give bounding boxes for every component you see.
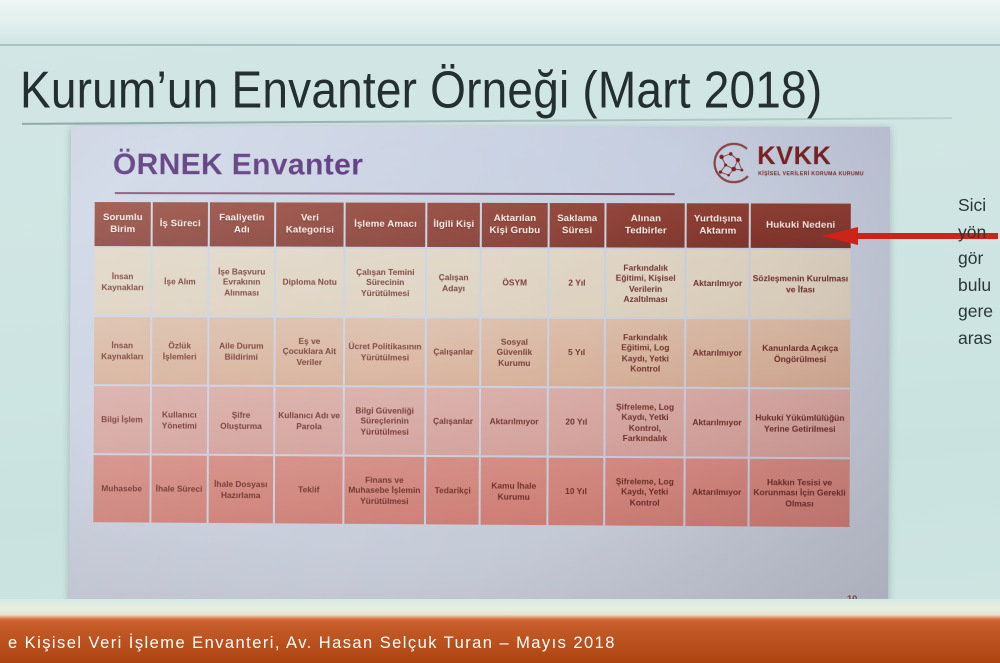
cell-aktarilan-kisi-grubu: ÖSYM xyxy=(482,249,548,317)
screenshot-root: Kurum’un Envanter Örneği (Mart 2018) ÖRN… xyxy=(0,0,1000,663)
inventory-table: Sorumlu Birim İş Süreci Faaliyetin Adı V… xyxy=(91,200,853,529)
cell-hukuki-nedeni: Sözleşmenin Kurulması ve İfası xyxy=(750,250,850,318)
slide-title: ÖRNEK Envanter xyxy=(113,146,364,184)
table-row: Bilgi İşlem Kullanıcı Yönetimi Şifre Olu… xyxy=(94,386,850,457)
cell-saklama-suresi: 2 Yıl xyxy=(549,249,604,317)
column-header-aktarilan-kisi-grubu[interactable]: Aktarılan Kişi Grubu xyxy=(482,203,548,247)
cell-veri-kategorisi: Teklif xyxy=(275,456,342,524)
cell-faaliyetin-adi: İhale Dosyası Hazırlama xyxy=(208,456,273,524)
banner-text: e Kişisel Veri İşleme Envanteri, Av. Has… xyxy=(8,632,616,654)
cell-aktarilan-kisi-grubu: Kamu İhale Kurumu xyxy=(481,457,547,525)
column-header-sorumlu-birim[interactable]: Sorumlu Birim xyxy=(95,202,152,246)
cell-saklama-suresi: 20 Yıl xyxy=(549,388,604,456)
cell-hukuki-nedeni: Hakkın Tesisi ve Korunması İçin Gerekli … xyxy=(749,459,849,527)
cell-is-sureci: İhale Süreci xyxy=(152,455,207,522)
column-header-veri-kategorisi[interactable]: Veri Kategorisi xyxy=(276,202,343,246)
table-row: İnsan Kaynakları Özlük İşlemleri Aile Du… xyxy=(94,317,850,387)
cell-faaliyetin-adi: Şifre Oluşturma xyxy=(208,387,273,454)
kvkk-subtitle: KİŞİSEL VERİLERİ KORUMA KURUMU xyxy=(758,171,864,178)
cell-veri-kategorisi: Diploma Notu xyxy=(276,249,343,316)
cell-isleme-amaci: Bilgi Güvenliği Süreçlerinin Yürütülmesi xyxy=(345,387,425,455)
side-note-line: bulu xyxy=(958,272,1000,299)
cell-saklama-suresi: 10 Yıl xyxy=(548,458,603,526)
cell-sorumlu-birim: Bilgi İşlem xyxy=(94,386,151,453)
cell-sorumlu-birim: İnsan Kaynakları xyxy=(94,248,151,315)
cell-is-sureci: Özlük İşlemleri xyxy=(152,317,207,384)
side-note: Sici yön gör bulu gere aras xyxy=(958,192,1000,351)
column-header-isleme-amaci[interactable]: İşleme Amacı xyxy=(345,203,425,247)
cell-is-sureci: İşe Alım xyxy=(153,248,208,315)
cell-sorumlu-birim: İnsan Kaynakları xyxy=(94,317,151,384)
table-row: İnsan Kaynakları İşe Alım İşe Başvuru Ev… xyxy=(94,248,850,318)
wall-upper-band xyxy=(0,0,1000,46)
cell-ilgili-kisi: Çalışanlar xyxy=(427,318,480,386)
slide-title-light: Envanter xyxy=(223,148,363,181)
cell-veri-kategorisi: Kullanıcı Adı ve Parola xyxy=(275,387,342,455)
cell-veri-kategorisi: Eş ve Çocuklara Ait Veriler xyxy=(276,318,343,385)
kvkk-emblem-icon xyxy=(706,143,755,183)
cell-hukuki-nedeni: Hukuki Yükümlülüğün Yerine Getirilmesi xyxy=(750,389,850,457)
column-header-faaliyetin-adi[interactable]: Faaliyetin Adı xyxy=(209,202,274,246)
cell-yurtdisina-aktarim: Aktarılmıyor xyxy=(686,458,748,526)
column-header-ilgili-kisi[interactable]: İlgili Kişi xyxy=(427,203,480,247)
cell-faaliyetin-adi: İşe Başvuru Evrakının Alınması xyxy=(209,248,274,315)
side-note-line: aras xyxy=(958,325,1000,352)
slide-content: ÖRNEK Envanter KVKK KİŞİSEL VERİ xyxy=(77,132,882,610)
cell-sorumlu-birim: Muhasebe xyxy=(93,455,150,522)
column-header-saklama-suresi[interactable]: Saklama Süresi xyxy=(550,203,605,247)
side-note-line: gör xyxy=(958,245,1000,272)
kvkk-wordmark: KVKK xyxy=(757,143,831,170)
column-header-yurtdisina-aktarim[interactable]: Yurtdışına Aktarım xyxy=(687,203,749,248)
cell-hukuki-nedeni: Kanunlarda Açıkça Öngörülmesi xyxy=(750,319,850,387)
bottom-banner: e Kişisel Veri İşleme Envanteri, Av. Has… xyxy=(0,615,1000,663)
cell-isleme-amaci: Ücret Politikasının Yürütülmesi xyxy=(345,318,425,386)
cell-saklama-suresi: 5 Yıl xyxy=(549,319,604,387)
slide-title-rule xyxy=(115,192,675,195)
side-note-line: yön xyxy=(958,219,1000,246)
cell-alinan-tedbirler: Şifreleme, Log Kaydı, Yetki Kontrol, Far… xyxy=(606,388,685,456)
cell-is-sureci: Kullanıcı Yönetimi xyxy=(152,386,207,453)
wall-lower-strip xyxy=(0,599,1000,615)
cell-yurtdisina-aktarim: Aktarılmıyor xyxy=(687,250,749,318)
table-row: Muhasebe İhale Süreci İhale Dosyası Hazı… xyxy=(93,455,849,527)
column-header-is-sureci[interactable]: İş Süreci xyxy=(153,202,208,246)
side-note-line: Sici xyxy=(958,192,1000,219)
cell-aktarilan-kisi-grubu: Sosyal Güvenlik Kurumu xyxy=(482,319,548,387)
page-title: Kurum’un Envanter Örneği (Mart 2018) xyxy=(20,58,980,121)
cell-alinan-tedbirler: Farkındalık Eğitimi, Kişisel Verilerin A… xyxy=(606,249,685,317)
table-header-row: Sorumlu Birim İş Süreci Faaliyetin Adı V… xyxy=(95,202,851,248)
cell-ilgili-kisi: Çalışanlar xyxy=(427,388,480,456)
cell-ilgili-kisi: Çalışan Adayı xyxy=(427,249,480,317)
column-header-hukuki-nedeni[interactable]: Hukuki Nedeni xyxy=(751,203,851,248)
cell-alinan-tedbirler: Farkındalık Eğitimi, Log Kaydı, Yetki Ko… xyxy=(606,319,685,387)
cell-yurtdisina-aktarim: Aktarılmıyor xyxy=(686,319,748,387)
side-note-line: gere xyxy=(958,298,1000,325)
wall-seam-line xyxy=(0,44,1000,46)
cell-ilgili-kisi: Tedarikçi xyxy=(426,457,479,525)
slide-title-bold: ÖRNEK xyxy=(113,148,223,181)
cell-isleme-amaci: Çalışan Temini Sürecinin Yürütülmesi xyxy=(345,249,425,317)
cell-aktarilan-kisi-grubu: Aktarılmıyor xyxy=(481,388,547,456)
table-body: İnsan Kaynakları İşe Alım İşe Başvuru Ev… xyxy=(93,248,850,527)
column-header-alinan-tedbirler[interactable]: Alınan Tedbirler xyxy=(607,203,686,248)
cell-faaliyetin-adi: Aile Durum Bildirimi xyxy=(209,318,274,385)
projected-slide: ÖRNEK Envanter KVKK KİŞİSEL VERİ xyxy=(69,126,890,616)
cell-alinan-tedbirler: Şifreleme, Log Kaydı, Yetki Kontrol xyxy=(605,458,684,526)
kvkk-logo: KVKK KİŞİSEL VERİLERİ KORUMA KURUMU xyxy=(706,141,869,186)
cell-isleme-amaci: Finans ve Muhasebe İşlemin Yürütülmesi xyxy=(344,457,424,525)
cell-yurtdisina-aktarim: Aktarılmıyor xyxy=(686,389,748,457)
table-header: Sorumlu Birim İş Süreci Faaliyetin Adı V… xyxy=(95,202,851,248)
